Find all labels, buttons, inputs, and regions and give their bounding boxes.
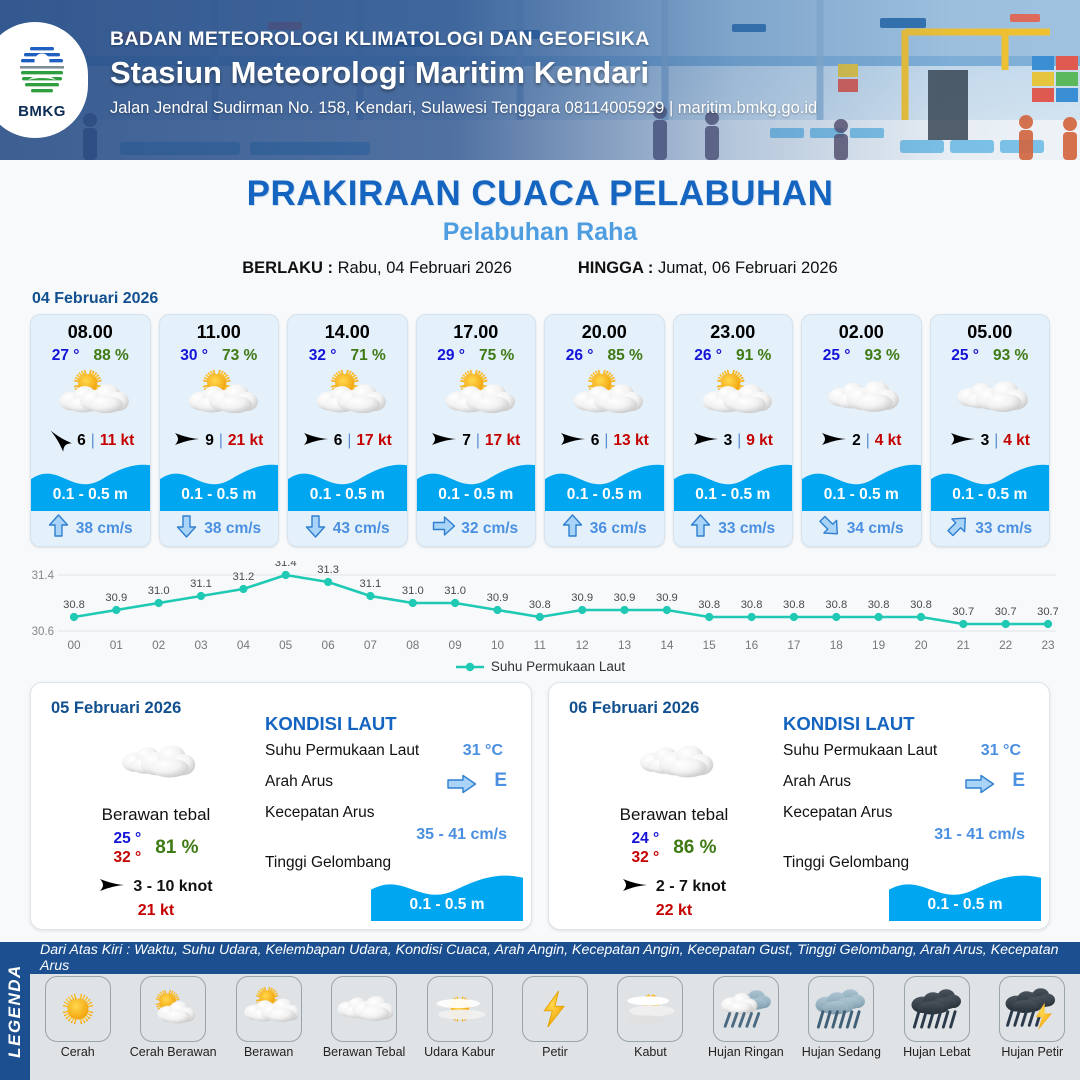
svg-text:30.7: 30.7: [1037, 606, 1058, 618]
valid-from-value: Rabu, 04 Februari 2026: [338, 259, 512, 277]
current-speed: 34 cm/s: [847, 520, 904, 538]
current-speed-value: 31 - 41 cm/s: [783, 826, 1035, 844]
current-block: 38 cm/s: [31, 511, 150, 546]
legend-strip: LEGENDA Dari Atas Kiri : Waktu, Suhu Uda…: [0, 942, 1080, 1080]
current-direction-value: E: [494, 770, 507, 792]
wind-direction-arrow-icon: [431, 430, 457, 453]
forecast-wind: 3 | 9 kt: [674, 426, 793, 456]
current-direction-row: Arah Arus E: [265, 773, 517, 797]
svg-text:31.1: 31.1: [190, 578, 212, 590]
panel-weather-block: Berawan tebal 25 ° 32 ° 81 % 3 - 10 knot…: [51, 731, 261, 920]
svg-text:31.4: 31.4: [32, 570, 55, 582]
wind-speed: 3: [981, 432, 990, 450]
wave-height-value: 0.1 - 0.5 m: [417, 486, 536, 504]
current-speed-row: Kecepatan Arus: [783, 804, 1035, 828]
forecast-humidity: 71 %: [350, 347, 385, 365]
forecast-temperature: 26 °: [566, 347, 594, 365]
panel-wave-value: 0.1 - 0.5 m: [889, 896, 1041, 914]
svg-text:04: 04: [237, 638, 251, 652]
legend-fog-icon: [617, 976, 683, 1042]
svg-text:18: 18: [830, 638, 844, 652]
svg-text:30.7: 30.7: [995, 606, 1017, 618]
forecast-card: 23.00 26 ° 91 % 3: [673, 314, 794, 547]
current-direction-arrow-icon: [305, 514, 326, 543]
wind-speed: 6: [591, 432, 600, 450]
panel-weather-block: Berawan tebal 24 ° 32 ° 86 % 2 - 7 knot …: [569, 731, 779, 920]
forecast-temp-humidity: 32 ° 71 %: [288, 347, 407, 365]
forecast-card: 20.00 26 ° 85 % 6: [544, 314, 665, 547]
wave-height-block: 0.1 - 0.5 m: [545, 456, 664, 511]
sst-row: Suhu Permukaan Laut 31 °C: [265, 742, 517, 766]
legend-item-label: Hujan Sedang: [794, 1045, 889, 1059]
title-section: PRAKIRAAN CUACA PELABUHAN Pelabuhan Raha…: [0, 160, 1080, 278]
svg-text:30.9: 30.9: [487, 592, 509, 604]
wind-speed: 6: [334, 432, 343, 450]
page-title: PRAKIRAAN CUACA PELABUHAN: [0, 174, 1080, 214]
forecast-card: 02.00 25 ° 93 % 2: [801, 314, 922, 547]
panel-humidity: 86 %: [673, 837, 716, 859]
forecast-day-label: 04 Februari 2026: [32, 290, 1080, 308]
svg-text:11: 11: [534, 638, 546, 652]
valid-to-value: Jumat, 06 Februari 2026: [658, 259, 838, 277]
forecast-humidity: 91 %: [736, 347, 771, 365]
forecast-wind: 6 | 11 kt: [31, 426, 150, 456]
wind-separator: |: [866, 432, 870, 450]
forecast-temperature: 27 °: [52, 347, 80, 365]
svg-text:12: 12: [576, 638, 589, 652]
forecast-wind: 3 | 4 kt: [931, 426, 1050, 456]
panel-temp-min: 24 °: [631, 829, 659, 848]
panel-wave-graphic: 0.1 - 0.5 m: [371, 867, 523, 921]
forecast-wind: 6 | 17 kt: [288, 426, 407, 456]
svg-text:15: 15: [703, 638, 717, 652]
panel-wind-range: 3 - 10 knot: [133, 878, 212, 896]
wind-gust: 9 kt: [746, 432, 773, 450]
panel-temp-humidity: 25 ° 32 ° 81 %: [51, 829, 261, 868]
sst-value: 31 °C: [981, 742, 1021, 760]
svg-text:30.8: 30.8: [910, 599, 932, 611]
bmkg-logo-text: BMKG: [18, 103, 66, 120]
forecast-time: 17.00: [417, 315, 536, 343]
current-block: 33 cm/s: [674, 511, 793, 546]
forecast-time: 02.00: [802, 315, 921, 343]
wind-direction-arrow-icon: [46, 430, 72, 453]
wind-separator: |: [347, 432, 351, 450]
legend-item-label: Udara Kabur: [412, 1045, 507, 1059]
forecast-temperature: 25 °: [951, 347, 979, 365]
svg-text:31.0: 31.0: [402, 585, 424, 597]
panel-wind-direction-arrow-icon: [99, 876, 125, 899]
panel-temp-range: 24 ° 32 °: [631, 829, 659, 868]
forecast-wind: 9 | 21 kt: [160, 426, 279, 456]
forecast-temperature: 32 °: [309, 347, 337, 365]
wave-height-block: 0.1 - 0.5 m: [931, 456, 1050, 511]
sea-condition-title: KONDISI LAUT: [783, 713, 1035, 735]
panel-wind-range: 2 - 7 knot: [656, 878, 726, 896]
forecast-time: 05.00: [931, 315, 1050, 343]
forecast-temperature: 30 °: [180, 347, 208, 365]
forecast-humidity: 75 %: [479, 347, 514, 365]
svg-text:13: 13: [618, 638, 632, 652]
current-direction-label: Arah Arus: [265, 773, 333, 790]
forecast-temp-humidity: 26 ° 85 %: [545, 347, 664, 365]
svg-text:05: 05: [279, 638, 293, 652]
panel-wind-gust: 21 kt: [51, 902, 261, 920]
legend-icon-row: Cerah Cerah Berawan: [30, 976, 1080, 1059]
panel-temp-humidity: 24 ° 32 ° 86 %: [569, 829, 779, 868]
legend-item: Cerah: [30, 976, 125, 1059]
legend-light-rain-icon: [713, 976, 779, 1042]
wind-speed: 9: [205, 432, 214, 450]
weather-condition-icon: [802, 368, 921, 426]
valid-to: HINGGA : Jumat, 06 Februari 2026: [578, 259, 838, 278]
forecast-time: 11.00: [160, 315, 279, 343]
legend-item: Berawan Tebal: [316, 976, 411, 1059]
svg-text:30.9: 30.9: [105, 592, 127, 604]
current-direction-label: Arah Arus: [783, 773, 851, 790]
wave-height-value: 0.1 - 0.5 m: [288, 486, 407, 504]
sea-condition-block: KONDISI LAUT Suhu Permukaan Laut 31 °C A…: [783, 713, 1035, 878]
current-direction-arrow-icon: [562, 514, 583, 543]
wave-height-value: 0.1 - 0.5 m: [674, 486, 793, 504]
current-speed: 38 cm/s: [204, 520, 261, 538]
legend-item-label: Berawan: [221, 1045, 316, 1059]
legend-item-label: Berawan Tebal: [316, 1045, 411, 1059]
wave-height-value: 0.1 - 0.5 m: [31, 486, 150, 504]
legend-item: Cerah Berawan: [125, 976, 220, 1059]
current-block: 38 cm/s: [160, 511, 279, 546]
current-speed-value: 35 - 41 cm/s: [265, 826, 517, 844]
panel-weather-icon: [51, 731, 261, 793]
current-speed: 36 cm/s: [590, 520, 647, 538]
svg-text:31.4: 31.4: [275, 561, 297, 569]
legend-item: Hujan Lebat: [889, 976, 984, 1059]
wind-direction-arrow-icon: [821, 430, 847, 453]
legend-item: Hujan Ringan: [698, 976, 793, 1059]
legend-side-label: LEGENDA: [5, 964, 25, 1058]
panel-weather-icon: [569, 731, 779, 793]
valid-to-label: HINGGA :: [578, 259, 653, 277]
legend-moderate-rain-icon: [808, 976, 874, 1042]
forecast-time: 23.00: [674, 315, 793, 343]
svg-text:21: 21: [957, 638, 970, 652]
forecast-card: 05.00 25 ° 93 % 3: [930, 314, 1051, 547]
current-block: 33 cm/s: [931, 511, 1050, 546]
legend-item-label: Hujan Ringan: [698, 1045, 793, 1059]
wind-separator: |: [219, 432, 223, 450]
panel-humidity: 81 %: [155, 837, 198, 859]
weather-condition-icon: [674, 368, 793, 426]
current-speed: 33 cm/s: [718, 520, 775, 538]
legend-item: Hujan Sedang: [794, 976, 889, 1059]
wind-gust: 4 kt: [875, 432, 902, 450]
chart-legend: Suhu Permukaan Laut: [0, 659, 1080, 674]
svg-text:30.8: 30.8: [783, 599, 805, 611]
legend-sunny-icon: [45, 976, 111, 1042]
legend-thunderstorm-icon: [999, 976, 1065, 1042]
wind-gust: 17 kt: [356, 432, 391, 450]
forecast-wind: 7 | 17 kt: [417, 426, 536, 456]
svg-text:09: 09: [449, 638, 462, 652]
panel-wind: 3 - 10 knot: [51, 876, 261, 899]
legend-overcast-icon: [331, 976, 397, 1042]
legend-item-label: Cerah Berawan: [125, 1045, 220, 1059]
legend-item-label: Cerah: [30, 1045, 125, 1059]
legend-item-label: Kabut: [603, 1045, 698, 1059]
panel-temp-range: 25 ° 32 °: [113, 829, 141, 868]
svg-text:19: 19: [872, 638, 885, 652]
forecast-temp-humidity: 25 ° 93 %: [802, 347, 921, 365]
sea-condition-block: KONDISI LAUT Suhu Permukaan Laut 31 °C A…: [265, 713, 517, 878]
svg-text:30.9: 30.9: [571, 592, 593, 604]
svg-text:14: 14: [660, 638, 674, 652]
svg-text:30.7: 30.7: [952, 606, 974, 618]
wave-height-value: 0.1 - 0.5 m: [802, 486, 921, 504]
forecast-temperature: 29 °: [437, 347, 465, 365]
svg-text:03: 03: [194, 638, 208, 652]
forecast-time: 20.00: [545, 315, 664, 343]
current-speed: 43 cm/s: [333, 520, 390, 538]
svg-text:16: 16: [745, 638, 759, 652]
forecast-wind: 2 | 4 kt: [802, 426, 921, 456]
wind-gust: 4 kt: [1003, 432, 1030, 450]
current-speed: 38 cm/s: [76, 520, 133, 538]
forecast-temp-humidity: 30 ° 73 %: [160, 347, 279, 365]
svg-text:30.8: 30.8: [529, 599, 551, 611]
valid-from: BERLAKU : Rabu, 04 Februari 2026: [242, 259, 512, 278]
current-block: 34 cm/s: [802, 511, 921, 546]
wind-gust: 13 kt: [613, 432, 648, 450]
current-direction-arrow-icon: [965, 774, 995, 799]
legend-item: Kabut: [603, 976, 698, 1059]
wave-height-value: 0.1 - 0.5 m: [160, 486, 279, 504]
panel-date: 06 Februari 2026: [569, 699, 699, 718]
legend-item-label: Hujan Petir: [985, 1045, 1080, 1059]
svg-text:23: 23: [1041, 638, 1055, 652]
forecast-temp-humidity: 27 ° 88 %: [31, 347, 150, 365]
sst-chart-svg: 31.430.630.80030.90131.00231.10331.20431…: [22, 561, 1058, 656]
panel-temp-max: 32 °: [631, 848, 659, 867]
svg-text:30.9: 30.9: [614, 592, 636, 604]
panel-wave-graphic: 0.1 - 0.5 m: [889, 867, 1041, 921]
legend-item-label: Petir: [507, 1045, 602, 1059]
sst-label: Suhu Permukaan Laut: [783, 742, 937, 759]
port-name: Pelabuhan Raha: [0, 218, 1080, 247]
svg-text:31.1: 31.1: [360, 578, 382, 590]
wind-separator: |: [476, 432, 480, 450]
wind-separator: |: [604, 432, 608, 450]
daily-forecast-panel: 06 Februari 2026 Berawan tebal 2: [548, 682, 1050, 930]
legend-note: Dari Atas Kiri : Waktu, Suhu Udara, Kele…: [30, 942, 1080, 974]
weather-condition-icon: [417, 368, 536, 426]
forecast-card: 11.00 30 ° 73 % 9: [159, 314, 280, 547]
weather-condition-icon: [931, 368, 1050, 426]
legend-side-bar: LEGENDA: [0, 942, 30, 1080]
wave-height-value: 0.1 - 0.5 m: [931, 486, 1050, 504]
station-name: Stasiun Meteorologi Maritim Kendari: [110, 55, 817, 91]
chart-legend-swatch-icon: [455, 661, 485, 673]
forecast-humidity: 93 %: [993, 347, 1028, 365]
current-speed-label: Kecepatan Arus: [265, 804, 374, 821]
wind-separator: |: [994, 432, 998, 450]
svg-text:30.8: 30.8: [825, 599, 847, 611]
panel-condition: Berawan tebal: [51, 805, 261, 825]
wave-height-value: 0.1 - 0.5 m: [545, 486, 664, 504]
svg-text:31.2: 31.2: [233, 571, 255, 583]
svg-text:31.0: 31.0: [444, 585, 466, 597]
panel-temp-min: 25 °: [113, 829, 141, 848]
wind-direction-arrow-icon: [560, 430, 586, 453]
legend-item-label: Hujan Lebat: [889, 1045, 984, 1059]
sst-label: Suhu Permukaan Laut: [265, 742, 419, 759]
svg-text:30.8: 30.8: [698, 599, 720, 611]
wind-direction-arrow-icon: [303, 430, 329, 453]
header-text-block: BADAN METEOROLOGI KLIMATOLOGI DAN GEOFIS…: [110, 28, 817, 118]
daily-panels: 05 Februari 2026 Berawan tebal 2: [0, 674, 1080, 930]
sea-condition-title: KONDISI LAUT: [265, 713, 517, 735]
wind-direction-arrow-icon: [693, 430, 719, 453]
svg-text:08: 08: [406, 638, 420, 652]
forecast-temp-humidity: 26 ° 91 %: [674, 347, 793, 365]
sst-row: Suhu Permukaan Laut 31 °C: [783, 742, 1035, 766]
forecast-temp-humidity: 29 ° 75 %: [417, 347, 536, 365]
current-direction-value: E: [1012, 770, 1025, 792]
legend-item: Hujan Petir: [985, 976, 1080, 1059]
panel-wave-value: 0.1 - 0.5 m: [371, 896, 523, 914]
legend-item: Petir: [507, 976, 602, 1059]
svg-text:07: 07: [364, 638, 377, 652]
daily-forecast-panel: 05 Februari 2026 Berawan tebal 2: [30, 682, 532, 930]
agency-name: BADAN METEOROLOGI KLIMATOLOGI DAN GEOFIS…: [110, 28, 817, 51]
wave-height-block: 0.1 - 0.5 m: [288, 456, 407, 511]
current-direction-arrow-icon: [48, 514, 69, 543]
station-address: Jalan Jendral Sudirman No. 158, Kendari,…: [110, 99, 817, 118]
wind-separator: |: [91, 432, 95, 450]
weather-condition-icon: [288, 368, 407, 426]
svg-text:30.8: 30.8: [741, 599, 763, 611]
forecast-time: 14.00: [288, 315, 407, 343]
wind-direction-arrow-icon: [174, 430, 200, 453]
current-block: 36 cm/s: [545, 511, 664, 546]
legend-item: Udara Kabur: [412, 976, 507, 1059]
legend-haze-icon: [427, 976, 493, 1042]
current-direction-arrow-icon: [447, 774, 477, 799]
legend-note-bar: Dari Atas Kiri : Waktu, Suhu Udara, Kele…: [30, 942, 1080, 974]
forecast-humidity: 93 %: [864, 347, 899, 365]
forecast-card: 14.00 32 ° 71 % 6: [287, 314, 408, 547]
wave-height-block: 0.1 - 0.5 m: [417, 456, 536, 511]
svg-text:00: 00: [67, 638, 81, 652]
forecast-temperature: 26 °: [694, 347, 722, 365]
wind-direction-arrow-icon: [950, 430, 976, 453]
current-speed-row: Kecepatan Arus: [265, 804, 517, 828]
current-speed: 33 cm/s: [975, 520, 1032, 538]
hourly-forecast-row: 08.00 27 ° 88 % 6: [0, 314, 1080, 547]
wave-height-block: 0.1 - 0.5 m: [160, 456, 279, 511]
current-direction-arrow-icon: [433, 514, 454, 543]
sst-chart: 31.430.630.80030.90131.00231.10331.20431…: [22, 561, 1058, 656]
forecast-humidity: 85 %: [607, 347, 642, 365]
panel-temp-max: 32 °: [113, 848, 141, 867]
legend-item: Berawan: [221, 976, 316, 1059]
svg-text:30.6: 30.6: [32, 626, 54, 638]
panel-condition: Berawan tebal: [569, 805, 779, 825]
current-speed: 32 cm/s: [461, 520, 518, 538]
panel-wind-direction-arrow-icon: [622, 876, 648, 899]
svg-text:06: 06: [322, 638, 336, 652]
forecast-card: 08.00 27 ° 88 % 6: [30, 314, 151, 547]
weather-condition-icon: [160, 368, 279, 426]
panel-wind-gust: 22 kt: [569, 902, 779, 920]
wave-height-block: 0.1 - 0.5 m: [31, 456, 150, 511]
sst-value: 31 °C: [463, 742, 503, 760]
svg-text:01: 01: [110, 638, 123, 652]
panel-wind: 2 - 7 knot: [569, 876, 779, 899]
current-speed-label: Kecepatan Arus: [783, 804, 892, 821]
legend-lightning-icon: [522, 976, 588, 1042]
svg-text:30.9: 30.9: [656, 592, 678, 604]
current-block: 32 cm/s: [417, 511, 536, 546]
weather-condition-icon: [545, 368, 664, 426]
svg-text:10: 10: [491, 638, 505, 652]
validity-row: BERLAKU : Rabu, 04 Februari 2026 HINGGA …: [0, 259, 1080, 278]
forecast-humidity: 88 %: [93, 347, 128, 365]
svg-text:31.3: 31.3: [317, 564, 339, 576]
current-direction-arrow-icon: [176, 514, 197, 543]
legend-cloudy-sun-icon: [236, 976, 302, 1042]
wind-speed: 7: [462, 432, 471, 450]
svg-text:31.0: 31.0: [148, 585, 170, 597]
chart-legend-label: Suhu Permukaan Laut: [491, 659, 625, 674]
wind-gust: 11 kt: [100, 432, 134, 450]
forecast-wind: 6 | 13 kt: [545, 426, 664, 456]
wave-height-block: 0.1 - 0.5 m: [674, 456, 793, 511]
svg-text:22: 22: [999, 638, 1012, 652]
current-direction-arrow-icon: [947, 514, 968, 543]
wave-height-block: 0.1 - 0.5 m: [802, 456, 921, 511]
panel-date: 05 Februari 2026: [51, 699, 181, 718]
svg-text:02: 02: [152, 638, 165, 652]
forecast-temperature: 25 °: [823, 347, 851, 365]
svg-text:30.8: 30.8: [63, 599, 85, 611]
valid-from-label: BERLAKU :: [242, 259, 333, 277]
current-direction-arrow-icon: [690, 514, 711, 543]
wind-speed: 2: [852, 432, 861, 450]
legend-sunny-cloudy-icon: [140, 976, 206, 1042]
wind-separator: |: [737, 432, 741, 450]
current-block: 43 cm/s: [288, 511, 407, 546]
weather-condition-icon: [31, 368, 150, 426]
legend-heavy-rain-icon: [904, 976, 970, 1042]
forecast-temp-humidity: 25 ° 93 %: [931, 347, 1050, 365]
bmkg-logo-mark: [14, 40, 70, 102]
forecast-humidity: 73 %: [222, 347, 257, 365]
current-direction-arrow-icon: [819, 514, 840, 543]
wind-speed: 6: [77, 432, 86, 450]
page-header: BMKG BADAN METEOROLOGI KLIMATOLOGI DAN G…: [0, 0, 1080, 160]
forecast-time: 08.00: [31, 315, 150, 343]
forecast-card: 17.00 29 ° 75 % 7: [416, 314, 537, 547]
svg-text:17: 17: [787, 638, 800, 652]
svg-text:20: 20: [914, 638, 928, 652]
wind-gust: 17 kt: [485, 432, 520, 450]
wind-speed: 3: [724, 432, 733, 450]
wind-gust: 21 kt: [228, 432, 263, 450]
svg-text:30.8: 30.8: [868, 599, 890, 611]
current-direction-row: Arah Arus E: [783, 773, 1035, 797]
